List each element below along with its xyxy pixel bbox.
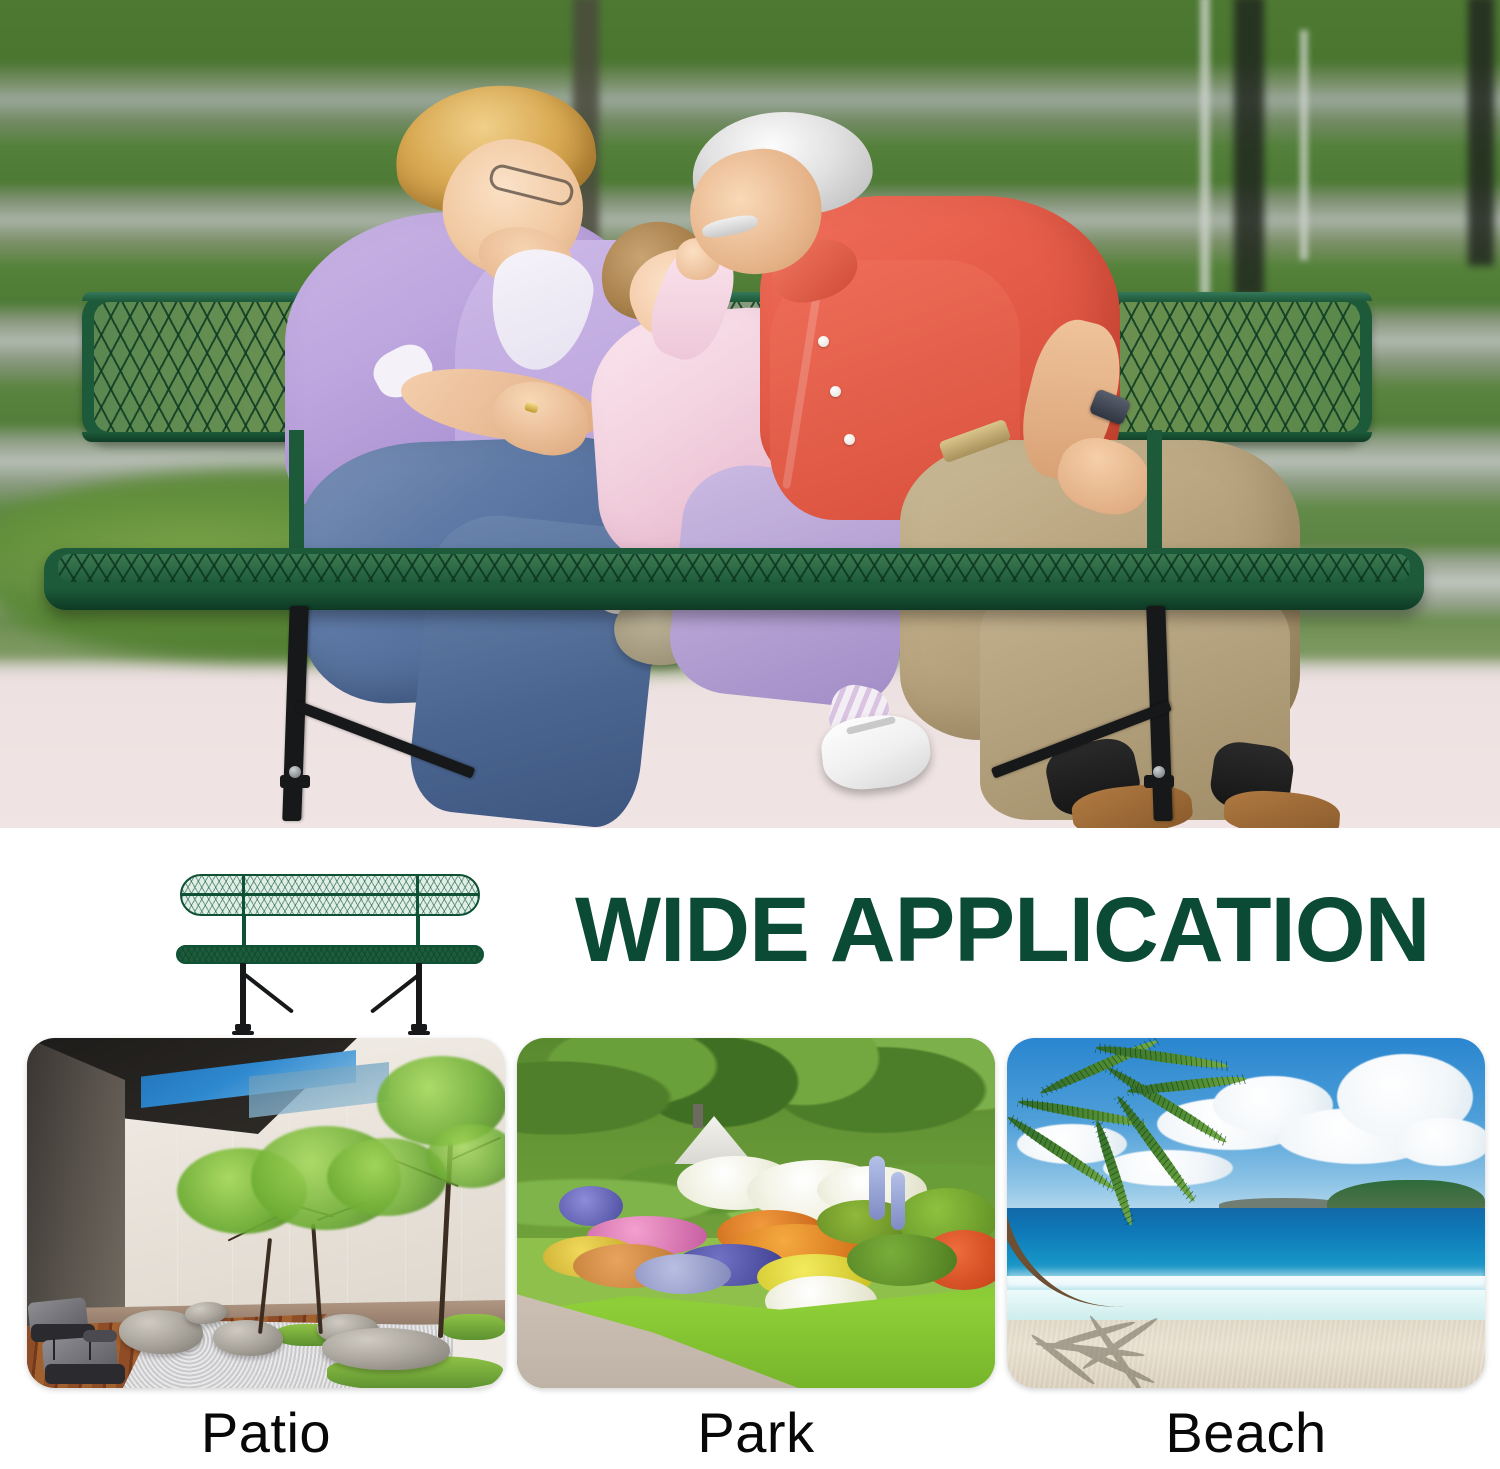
park-image [517,1038,995,1388]
patio-boulder [322,1328,450,1370]
illustration-foot [411,1024,427,1031]
shirt-button [830,386,841,397]
patio-chair-seat [45,1364,125,1384]
illustration-backrest-divider [242,874,245,916]
illustration-foot [235,1024,251,1031]
beach-cloud [1395,1118,1485,1166]
shirt-button [844,434,855,445]
backrest-support-post [1147,430,1162,554]
patio-boulder [213,1320,283,1356]
hero-lifestyle-photo [0,0,1500,828]
park-flower-bed [847,1234,957,1286]
wide-application-section: WIDE APPLICATION [0,828,1500,1469]
patio-image [27,1038,505,1388]
background-post-icon [1234,0,1264,296]
illustration-leg-brace [243,972,294,1013]
bench-bolt-icon [1153,766,1165,778]
illustration-seat [176,945,484,964]
illustration-support-post [416,916,420,947]
scene-label-patio: Patio [27,1400,505,1465]
park-flower-bed [635,1254,731,1294]
park-spire-flower [869,1156,885,1220]
backrest-support-post [289,430,304,554]
scene-label-beach: Beach [1007,1400,1485,1465]
patio-moss [441,1314,505,1340]
seat-front-lip [44,588,1424,610]
illustration-foot-plate [232,1031,254,1035]
seat-mesh [58,554,1410,582]
scene-card-park[interactable]: Park [517,1038,995,1388]
park-chimney [693,1104,703,1128]
scene-label-park: Park [517,1400,995,1465]
illustration-foot-plate [408,1031,430,1035]
park-spire-flower [891,1172,905,1230]
background-post-icon [1468,0,1494,266]
scene-card-patio[interactable]: Patio [27,1038,505,1388]
palm-tree-shadow [1015,1326,1215,1380]
patio-chair-leg [53,1338,55,1360]
beach-image [1007,1038,1485,1388]
application-scenes: Patio [0,1038,1500,1469]
scene-card-beach[interactable]: Beach [1007,1038,1485,1388]
section-headline: WIDE APPLICATION [575,890,1397,970]
illustration-leg-brace [370,972,421,1013]
patio-chair-leg [89,1340,91,1360]
illustration-backrest-divider [416,874,419,916]
bench-bolt-icon [289,766,301,778]
patio-side-table [83,1330,117,1342]
background-rail [1300,30,1308,260]
bench-product-line-art [176,874,484,1034]
illustration-support-post [242,916,246,947]
shirt-button [818,336,829,347]
bench-seat [44,548,1424,610]
illustration-backrest-rail [182,893,478,896]
background-rail [1200,0,1210,296]
